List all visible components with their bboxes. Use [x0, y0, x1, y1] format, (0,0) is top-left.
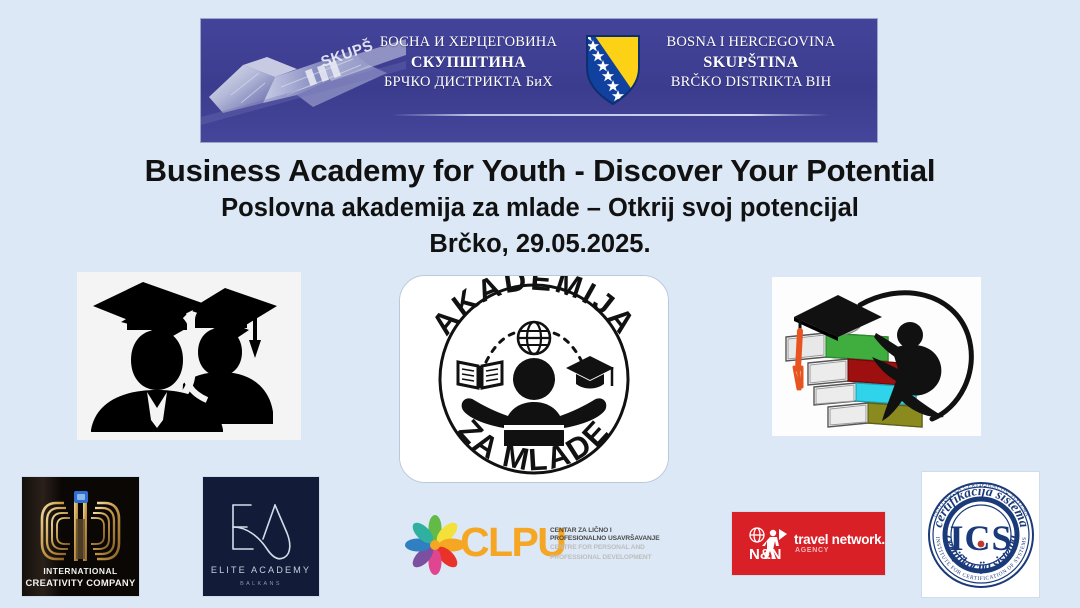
banner-cyrillic-line1: БОСНА И ХЕРЦЕГОВИНА [361, 33, 576, 52]
banner-text-cyrillic: БОСНА И ХЕРЦЕГОВИНА СКУПШТИНА БРЧКО ДИСТ… [361, 33, 576, 92]
bosnia-herzegovina-coat-of-arms [585, 34, 641, 106]
title-block: Business Academy for Youth - Discover Yo… [0, 152, 1080, 261]
banner-cyrillic-line3: БРЧКО ДИСТРИКТА БиХ [361, 73, 576, 92]
ics-monogram: ICS [949, 518, 1012, 558]
books-and-figure-image [772, 277, 981, 436]
book-olive [828, 403, 922, 427]
graduates-silhouette-image [77, 272, 301, 440]
clpu-subtitle-en-1: CENTRE FOR PERSONAL AND [550, 544, 668, 552]
banner-latin-line1: BOSNA I HERCEGOVINA [636, 33, 866, 52]
clpu-subtitle: CENTAR ZA LIČNO I PROFESIONALNO USAVRŠAV… [550, 527, 668, 562]
banner-text-latin: BOSNA I HERCEGOVINA SKUPŠTINA BRČKO DIST… [636, 33, 866, 92]
banner-latin-line2: SKUPŠTINA [636, 52, 866, 73]
icc-caption-line2: CREATIVITY COMPANY [25, 577, 136, 588]
clpu-subtitle-bs-1: CENTAR ZA LIČNO I [550, 527, 668, 535]
clpu-logo: CLPU CENTAR ZA LIČNO I PROFESIONALNO USA… [402, 513, 664, 575]
banner-cyrillic-line2: СКУПШТИНА [361, 52, 576, 73]
clpu-subtitle-en-2: PROFESSIONAL DEVELOPMENT [550, 554, 668, 562]
nn-travel-network-agency-logo: N&N travel network. AGENCY [731, 511, 886, 576]
akademija-za-mlade-logo: AKADEMIJA ZA MLADE [399, 275, 669, 483]
elite-caption-line1: ELITE ACADEMY [211, 565, 311, 575]
ics-certifikacija-sistema-logo: INSTITUT ZA CERTIFIKACIJU SISTEMA INSTIT… [921, 471, 1040, 598]
skupstina-brcko-distrikta-banner: SKUPŠ БОСНА И ХЕРЦЕГОВИНА СКУПШТИНА БРЧК… [200, 18, 878, 143]
banner-latin-line3: BRČKO DISTRIKTA BIH [636, 73, 866, 92]
elite-academy-balkans-logo: ELITE ACADEMY BALKANS [202, 476, 320, 597]
title-english: Business Academy for Youth - Discover Yo… [0, 152, 1080, 190]
nn-monogram-icon: N&N [746, 526, 788, 564]
clpu-subtitle-bs-2: PROFESIONALNO USAVRŠAVANJE [550, 535, 668, 543]
clpu-flower-icon [405, 515, 465, 575]
elite-caption-line2: BALKANS [240, 581, 282, 587]
presentation-slide: SKUPŠ БОСНА И ХЕРЦЕГОВИНА СКУПШТИНА БРЧК… [0, 0, 1080, 608]
nn-letters: N&N [749, 546, 782, 563]
title-location-date: Brčko, 29.05.2025. [0, 228, 1080, 261]
international-creativity-company-logo: INTERNATIONAL CREATIVITY COMPANY [21, 476, 140, 597]
title-bosnian: Poslovna akademija za mlade – Otkrij svo… [0, 192, 1080, 225]
nn-subtitle: AGENCY [795, 547, 829, 554]
icc-caption-line1: INTERNATIONAL [43, 566, 117, 576]
nn-wordmark: travel network. [794, 532, 885, 547]
banner-divider [391, 114, 829, 116]
